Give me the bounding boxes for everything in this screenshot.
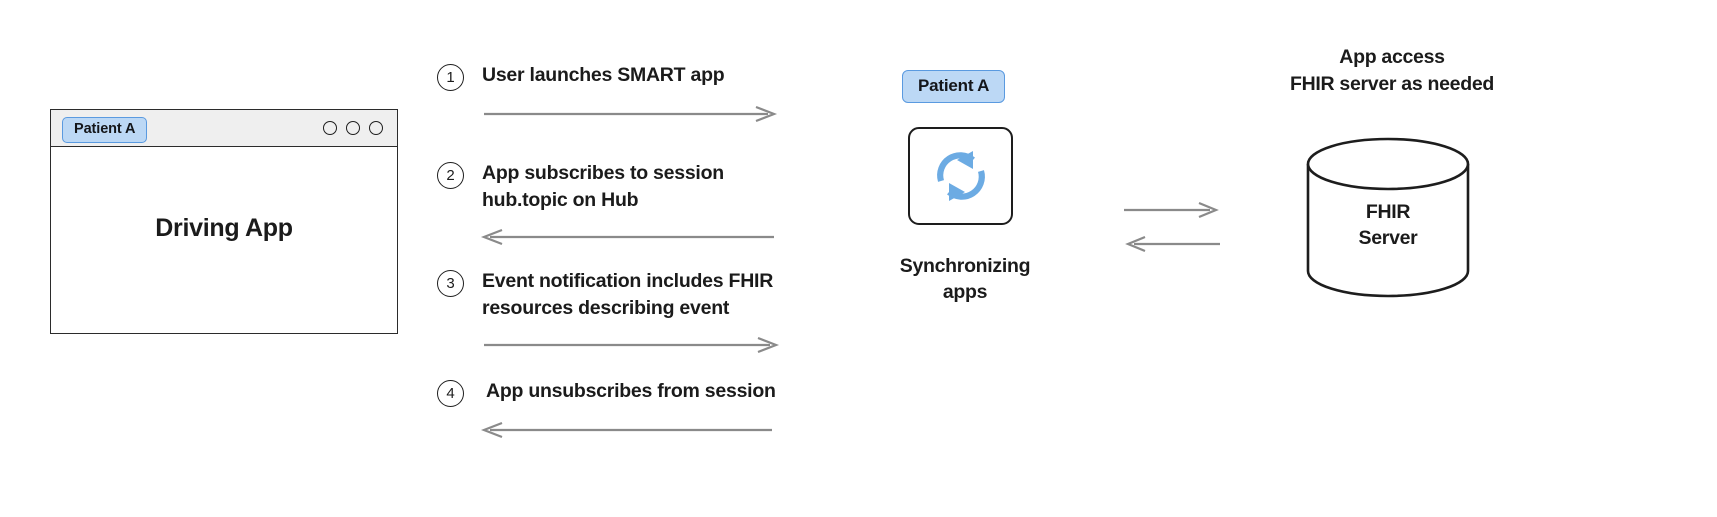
step-label-3: Event notification includes FHIR resourc… [482, 268, 773, 322]
step-arrow-1 [484, 106, 776, 122]
step-item-4: 4 App unsubscribes from session [437, 378, 776, 407]
sync-refresh-icon [930, 147, 992, 205]
server-link-arrows [1124, 196, 1220, 256]
close-circle-icon[interactable] [369, 121, 383, 135]
step-number-3: 3 [437, 270, 464, 297]
step-number-2: 2 [437, 162, 464, 189]
fhir-server-group: App access FHIR server as needed FHIR Se… [1262, 44, 1522, 97]
step-arrow-3 [484, 337, 778, 353]
step-item-1: 1 User launches SMART app [437, 62, 724, 91]
sync-caption: Synchronizing apps [870, 253, 1060, 306]
step-label-2: App subscribes to session hub.topic on H… [482, 160, 724, 214]
maximize-circle-icon[interactable] [346, 121, 360, 135]
step-arrow-4 [484, 422, 772, 438]
browser-titlebar: Patient A [51, 110, 397, 147]
step-number-1: 1 [437, 64, 464, 91]
step-label-1: User launches SMART app [482, 62, 724, 89]
step-item-3: 3 Event notification includes FHIR resou… [437, 268, 773, 322]
driving-app-title: Driving App [51, 214, 397, 243]
window-controls [323, 121, 383, 135]
step-label-4: App unsubscribes from session [486, 378, 776, 405]
server-cylinder-label: FHIR Server [1305, 199, 1471, 252]
browser-content-area: Driving App [51, 147, 397, 333]
browser-tab-patient-a[interactable]: Patient A [62, 117, 147, 143]
server-heading: App access FHIR server as needed [1262, 44, 1522, 97]
step-item-2: 2 App subscribes to session hub.topic on… [437, 160, 724, 214]
driving-app-browser-window: Patient A Driving App [50, 109, 398, 334]
sync-patient-badge[interactable]: Patient A [902, 70, 1005, 103]
minimize-circle-icon[interactable] [323, 121, 337, 135]
step-arrow-2 [484, 229, 774, 245]
step-number-4: 4 [437, 380, 464, 407]
sync-app-box[interactable] [908, 127, 1013, 225]
server-arrow-right [1124, 203, 1216, 217]
server-arrow-left [1128, 237, 1220, 251]
